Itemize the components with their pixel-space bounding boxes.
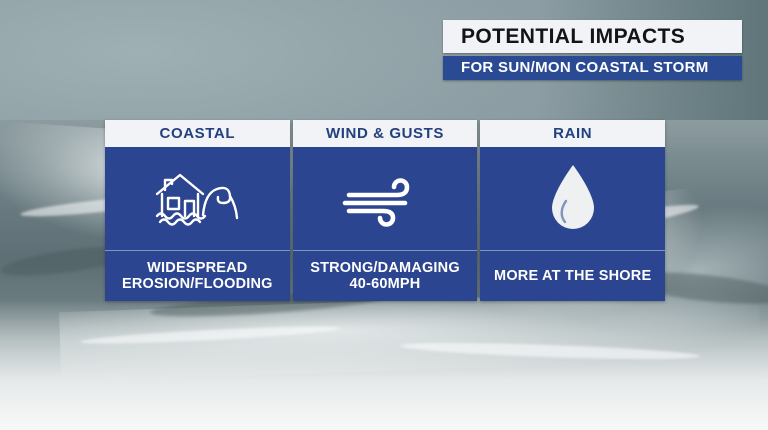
icon-cell-coastal — [105, 147, 290, 251]
title-block: POTENTIAL IMPACTS FOR SUN/MON COASTAL ST… — [443, 20, 742, 80]
impact-text-coastal: WIDESPREAD EROSION/FLOODING — [105, 251, 290, 301]
icon-cell-wind — [293, 147, 478, 251]
column-header-wind-gusts: WIND & GUSTS — [293, 120, 478, 147]
weather-graphic-stage: POTENTIAL IMPACTS FOR SUN/MON COASTAL ST… — [0, 0, 768, 430]
impact-line-2: EROSION/FLOODING — [122, 276, 273, 292]
impact-line-1: STRONG/DAMAGING — [310, 260, 460, 276]
icon-cell-rain — [480, 147, 665, 251]
column-coastal: COASTAL — [105, 120, 290, 301]
impact-columns: COASTAL — [105, 120, 665, 301]
impact-text-rain: MORE AT THE SHORE — [480, 251, 665, 301]
page-subtitle: FOR SUN/MON COASTAL STORM — [443, 56, 742, 80]
impact-text-wind-gusts: STRONG/DAMAGING 40-60MPH — [293, 251, 478, 301]
column-header-coastal: COASTAL — [105, 120, 290, 147]
column-wind-gusts: WIND & GUSTS STRONG/DAMAGING 40- — [293, 120, 478, 301]
house-with-wave-icon — [147, 168, 247, 230]
wind-icon — [335, 170, 435, 228]
page-title: POTENTIAL IMPACTS — [443, 20, 742, 53]
impact-line-1: WIDESPREAD — [122, 260, 273, 276]
sea-foam — [0, 300, 768, 430]
column-rain: RAIN MORE AT THE SHORE — [480, 120, 665, 301]
impact-line-1: MORE AT THE SHORE — [494, 268, 651, 284]
column-header-rain: RAIN — [480, 120, 665, 147]
impact-line-2: 40-60MPH — [310, 276, 460, 292]
raindrop-icon — [542, 161, 604, 237]
